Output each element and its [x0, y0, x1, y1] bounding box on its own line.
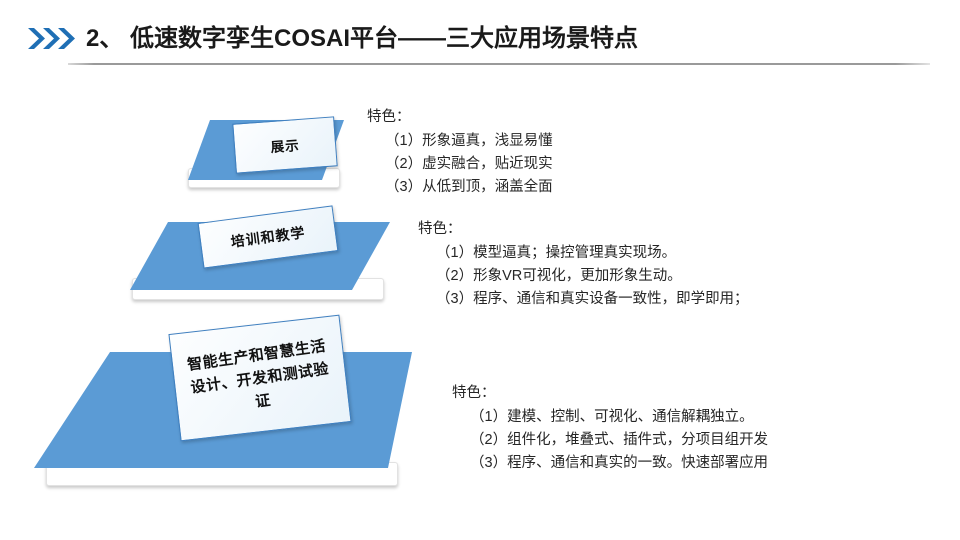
feature-heading-2: 特色：	[418, 218, 749, 241]
feature-list-2: 特色： （1）模型逼真；操控管理真实现场。 （2）形象VR可视化，更加形象生动。…	[418, 218, 749, 311]
feature-item: （2）形象VR可视化，更加形象生动。	[436, 265, 749, 288]
scenario-graphic-3: 智能生产和智慧生活 设计、开发和测试验 证	[32, 322, 422, 490]
feature-item: （3）程序、通信和真实设备一致性，即学即用；	[436, 288, 749, 311]
feature-item: （2）组件化，堆叠式、插件式，分项目组开发	[470, 429, 768, 452]
slide-title-bar: 2、 低速数字孪生COSAI平台——三大应用场景特点	[0, 22, 960, 62]
scenario-card-label-2: 培训和教学	[230, 222, 307, 252]
triple-chevron-right-icon	[26, 26, 82, 52]
scenario-card-1: 展示	[232, 116, 337, 173]
feature-list-3: 特色： （1）建模、控制、可视化、通信解耦独立。 （2）组件化，堆叠式、插件式，…	[452, 382, 768, 475]
scenario-graphic-1: 展示	[186, 112, 346, 194]
feature-heading-3: 特色：	[452, 382, 768, 405]
slide-canvas: 2、 低速数字孪生COSAI平台——三大应用场景特点 展示 特色： （1）形象逼…	[0, 0, 960, 540]
feature-heading-1: 特色：	[367, 106, 553, 129]
feature-item: （1）模型逼真；操控管理真实现场。	[436, 242, 749, 265]
title-divider	[68, 63, 930, 65]
scenario-card-label-3-line3: 证	[254, 391, 272, 410]
feature-item: （1）建模、控制、可视化、通信解耦独立。	[470, 406, 768, 429]
scenario-card-label-3: 智能生产和智慧生活 设计、开发和测试验 证	[186, 334, 334, 422]
feature-item: （2）虚实融合，贴近现实	[385, 153, 553, 176]
feature-item: （3）从低到顶，涵盖全面	[385, 176, 553, 199]
feature-item: （1）形象逼真，浅显易懂	[385, 130, 553, 153]
scenario-card-3: 智能生产和智慧生活 设计、开发和测试验 证	[168, 315, 351, 442]
feature-list-1: 特色： （1）形象逼真，浅显易懂 （2）虚实融合，贴近现实 （3）从低到顶，涵盖…	[367, 106, 553, 199]
feature-item: （3）程序、通信和真实的一致。快速部署应用	[470, 452, 768, 475]
page-title: 2、 低速数字孪生COSAI平台——三大应用场景特点	[86, 20, 638, 58]
scenario-card-label-1: 展示	[270, 134, 300, 156]
scenario-graphic-2: 培训和教学	[128, 216, 398, 306]
